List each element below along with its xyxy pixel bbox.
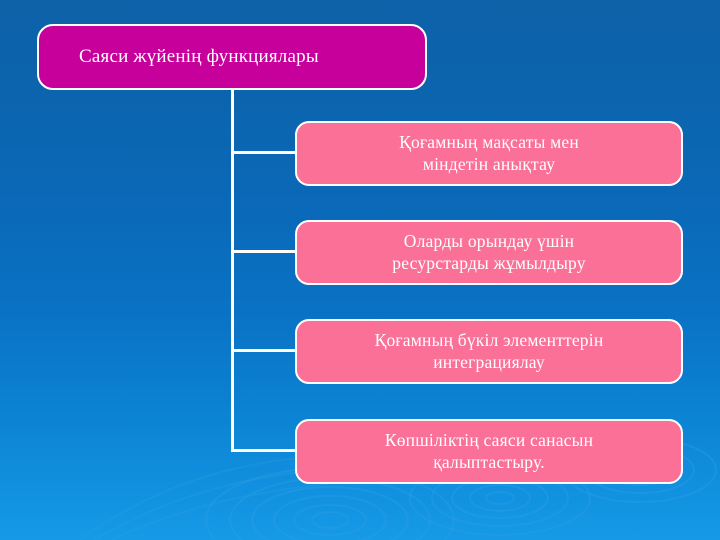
- connector-trunk: [231, 89, 234, 452]
- diagram-child-node-4[interactable]: Көпшіліктің саяси санасын қалыптастыру.: [295, 419, 683, 484]
- diagram-title-label: Саяси жүйенің функциялары: [79, 45, 319, 68]
- diagram-child-label-4: Көпшіліктің саяси санасын қалыптастыру.: [385, 430, 593, 473]
- connector-branch-3: [231, 349, 297, 352]
- diagram-child-label-3: Қоғамның бүкіл элементтерін интеграцияла…: [375, 330, 604, 373]
- diagram-title-node[interactable]: Саяси жүйенің функциялары: [37, 24, 427, 90]
- diagram-child-label-2: Оларды орындау үшін ресурстарды жұмылдыр…: [392, 231, 585, 274]
- connector-branch-2: [231, 250, 297, 253]
- diagram-child-node-1[interactable]: Қоғамның мақсаты мен міндетін анықтау: [295, 121, 683, 186]
- diagram-child-node-2[interactable]: Оларды орындау үшін ресурстарды жұмылдыр…: [295, 220, 683, 285]
- connector-branch-1: [231, 151, 297, 154]
- diagram-child-node-3[interactable]: Қоғамның бүкіл элементтерін интеграцияла…: [295, 319, 683, 384]
- slide-canvas: Саяси жүйенің функциялары Қоғамның мақса…: [0, 0, 720, 540]
- connector-branch-4: [231, 449, 297, 452]
- diagram-child-label-1: Қоғамның мақсаты мен міндетін анықтау: [399, 132, 579, 175]
